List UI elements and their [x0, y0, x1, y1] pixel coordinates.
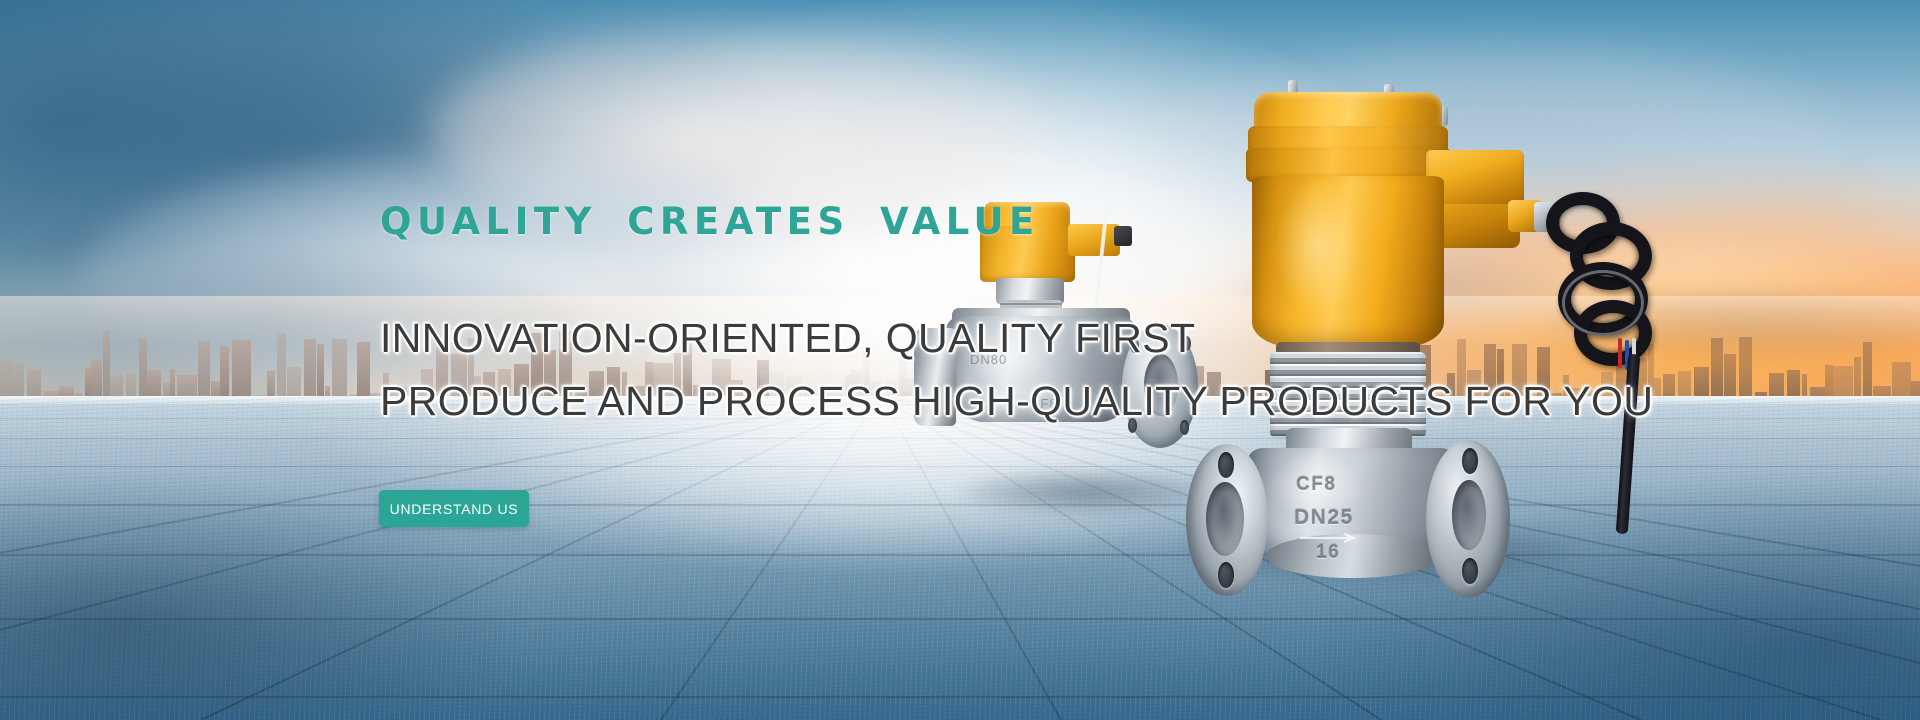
banner-subheading-line-1: INNOVATION-ORIENTED, QUALITY FIRST	[380, 315, 1195, 362]
banner-content: QUALITY CREATES VALUE INNOVATION-ORIENTE…	[0, 0, 1920, 720]
banner-subheading-line-2: PRODUCE AND PROCESS HIGH-QUALITY PRODUCT…	[380, 378, 1653, 425]
hero-banner: DN80 CF8 CF8 DN25 16	[0, 0, 1920, 720]
banner-eyebrow-heading: QUALITY CREATES VALUE	[380, 200, 1040, 243]
understand-us-button[interactable]: UNDERSTAND US	[379, 490, 529, 527]
